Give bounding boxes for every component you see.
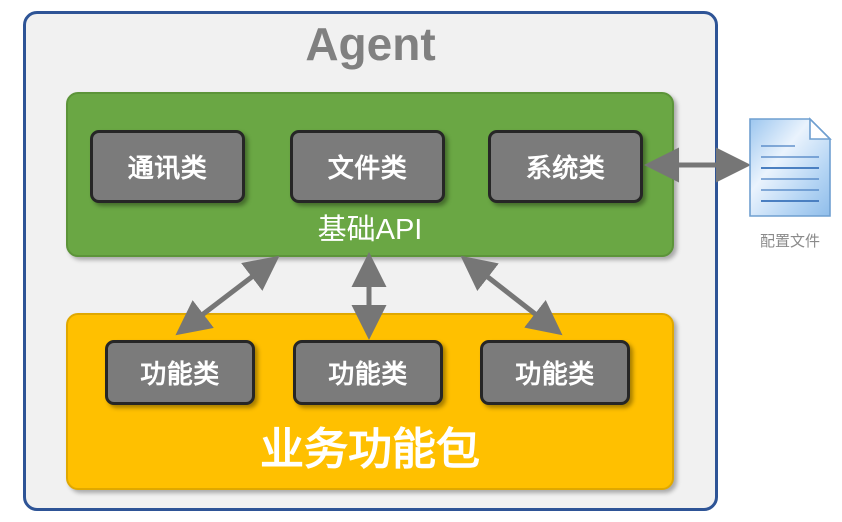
api-layer-label: 基础API: [68, 211, 672, 249]
diagram-canvas: Agent 基础API 通讯类 文件类 系统类 业务功能包 功能类 功能类 功能…: [0, 0, 842, 522]
business-chip-function-2[interactable]: 功能类: [293, 340, 443, 405]
api-chip-communication[interactable]: 通讯类: [90, 130, 245, 203]
business-chip-function-3[interactable]: 功能类: [480, 340, 630, 405]
business-layer-label: 业务功能包: [68, 422, 672, 478]
api-chip-system[interactable]: 系统类: [488, 130, 643, 203]
api-chip-file[interactable]: 文件类: [290, 130, 445, 203]
config-file-label: 配置文件: [725, 230, 842, 251]
page-title: Agent: [23, 14, 718, 74]
document-icon: [748, 117, 832, 218]
business-chip-function-1[interactable]: 功能类: [105, 340, 255, 405]
